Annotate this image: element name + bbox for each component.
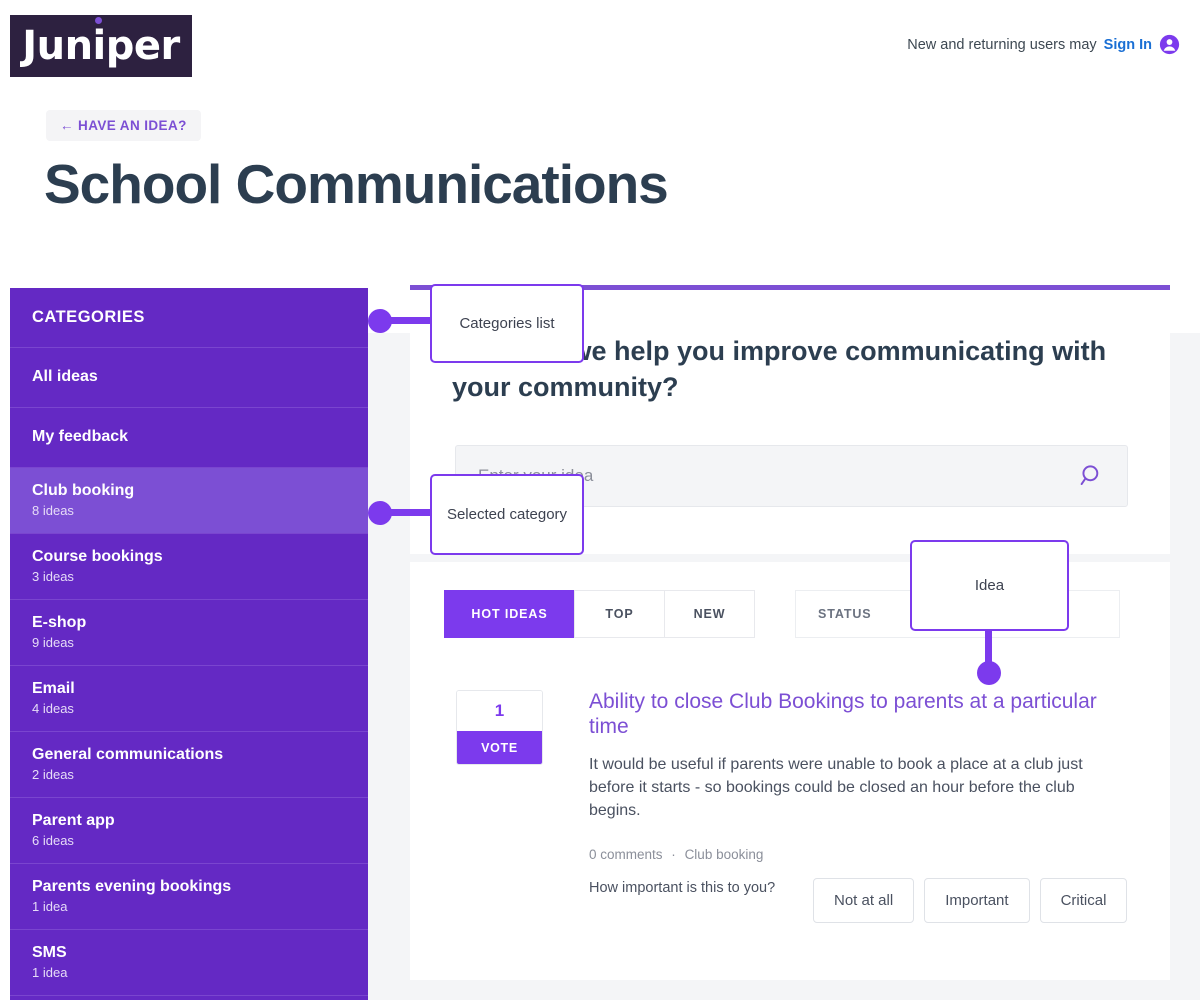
sidebar-item-my-feedback[interactable]: My feedback xyxy=(10,408,368,468)
annotation-marker-selected-category xyxy=(368,501,392,525)
vote-button[interactable]: VOTE xyxy=(457,731,542,764)
importance-important-button[interactable]: Important xyxy=(924,878,1029,923)
sidebar-item-general-communications[interactable]: General communications 2 ideas xyxy=(10,732,368,798)
sidebar-item-label: Parents evening bookings xyxy=(32,878,346,896)
sidebar-item-count: 3 ideas xyxy=(32,569,346,584)
importance-critical-button[interactable]: Critical xyxy=(1040,878,1128,923)
tab-new[interactable]: NEW xyxy=(664,590,755,638)
annotation-label-idea: Idea xyxy=(910,540,1069,631)
sidebar-item-label: My feedback xyxy=(32,428,346,446)
sidebar-item-e-shop[interactable]: E-shop 9 ideas xyxy=(10,600,368,666)
idea-description: It would be useful if parents were unabl… xyxy=(589,753,1129,823)
importance-buttons: Not at all Important Critical xyxy=(813,878,1127,923)
idea-title-link[interactable]: Ability to close Club Bookings to parent… xyxy=(589,690,1129,740)
idea-comment-count: 0 comments xyxy=(589,847,663,862)
logo-text: Juniper xyxy=(22,26,180,66)
sidebar-item-count: 4 ideas xyxy=(32,701,346,716)
annotation-marker-categories-list xyxy=(368,309,392,333)
sidebar-item-label: Course bookings xyxy=(32,548,346,566)
sidebar-item-count: 2 ideas xyxy=(32,767,346,782)
sidebar-item-label: Parent app xyxy=(32,812,346,830)
sidebar-item-label: SMS xyxy=(32,944,346,962)
page-root: Juniper New and returning users may Sign… xyxy=(0,0,1200,1000)
page-title: School Communications xyxy=(44,152,668,216)
annotation-connector-categories-list xyxy=(385,317,433,324)
sidebar-item-label: General communications xyxy=(32,746,346,764)
sidebar-item-parent-app[interactable]: Parent app 6 ideas xyxy=(10,798,368,864)
vote-widget: 1 VOTE xyxy=(456,690,543,765)
sign-in-link[interactable]: Sign In xyxy=(1104,37,1152,53)
importance-question: How important is this to you? xyxy=(589,878,789,899)
signin-area: New and returning users may Sign In xyxy=(907,34,1180,55)
importance-rating-row: How important is this to you? Not at all… xyxy=(589,878,1149,923)
signin-prefix-text: New and returning users may xyxy=(907,37,1096,53)
logo-dot-icon xyxy=(95,17,102,24)
have-an-idea-button[interactable]: ← HAVE AN IDEA? xyxy=(46,110,201,141)
annotation-label-categories-list: Categories list xyxy=(430,284,584,363)
sidebar-item-email[interactable]: Email 4 ideas xyxy=(10,666,368,732)
sidebar-item-count: 1 idea xyxy=(32,965,346,980)
categories-sidebar: CATEGORIES All ideas My feedback Club bo… xyxy=(10,288,368,1000)
sidebar-item-label: All ideas xyxy=(32,368,346,386)
sidebar-item-count: 8 ideas xyxy=(32,503,346,518)
sidebar-item-label: Club booking xyxy=(32,482,346,500)
background-gutter-left xyxy=(368,333,410,1000)
juniper-logo[interactable]: Juniper xyxy=(10,15,192,77)
annotation-connector-selected-category xyxy=(385,509,433,516)
sidebar-item-count: 9 ideas xyxy=(32,635,346,650)
tab-top[interactable]: TOP xyxy=(574,590,665,638)
annotation-marker-idea xyxy=(977,661,1001,685)
sidebar-item-count: 1 idea xyxy=(32,899,346,914)
background-gutter-right xyxy=(1170,333,1200,1000)
sidebar-item-count: 6 ideas xyxy=(32,833,346,848)
sidebar-item-club-booking[interactable]: Club booking 8 ideas xyxy=(10,468,368,534)
annotation-label-selected-category: Selected category xyxy=(430,474,584,555)
meta-separator: · xyxy=(671,847,676,862)
user-circle-icon[interactable] xyxy=(1159,34,1180,55)
categories-header: CATEGORIES xyxy=(10,288,368,348)
idea-meta: 0 comments · Club booking xyxy=(589,847,1129,862)
importance-not-at-all-button[interactable]: Not at all xyxy=(813,878,914,923)
idea-category-link[interactable]: Club booking xyxy=(685,847,764,862)
background-panel-bottom xyxy=(410,980,1170,1000)
sidebar-item-parents-evening-bookings[interactable]: Parents evening bookings 1 idea xyxy=(10,864,368,930)
idea-content: Ability to close Club Bookings to parent… xyxy=(589,690,1129,862)
sidebar-item-sms[interactable]: SMS 1 idea xyxy=(10,930,368,996)
sidebar-item-label: E-shop xyxy=(32,614,346,632)
vote-count: 1 xyxy=(457,691,542,731)
sidebar-item-all-ideas[interactable]: All ideas xyxy=(10,348,368,408)
sidebar-item-label: Email xyxy=(32,680,346,698)
sidebar-item-course-bookings[interactable]: Course bookings 3 ideas xyxy=(10,534,368,600)
ideas-tabs: HOT IDEAS TOP NEW xyxy=(444,590,755,638)
search-icon[interactable] xyxy=(1079,463,1105,489)
tab-hot-ideas[interactable]: HOT IDEAS xyxy=(444,590,575,638)
